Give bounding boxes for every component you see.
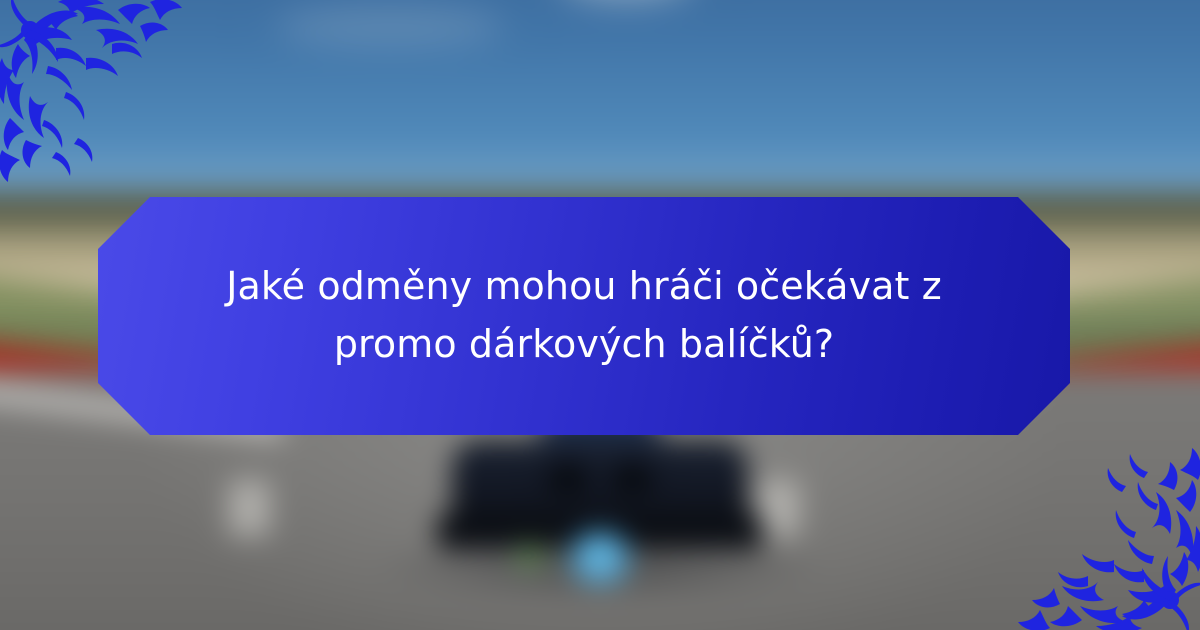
headline-banner: Jaké odměny mohou hráči očekávat z promo… <box>98 197 1070 435</box>
track-marker-right <box>757 480 799 537</box>
ornament-top-left-icon <box>0 0 190 190</box>
track-marker-left <box>228 480 270 537</box>
car-diffuser-left <box>546 461 588 493</box>
car-rain-light <box>561 530 639 585</box>
car-green-glow <box>500 541 559 573</box>
headline-text: Jaké odměny mohou hráči očekávat z promo… <box>98 258 1070 374</box>
formula-one-car <box>437 413 762 571</box>
ornament-bottom-right-icon <box>1010 440 1200 630</box>
cloud <box>274 5 505 47</box>
car-diffuser-right <box>612 461 654 493</box>
banner-stage: Jaké odměny mohou hráči očekávat z promo… <box>0 0 1200 630</box>
